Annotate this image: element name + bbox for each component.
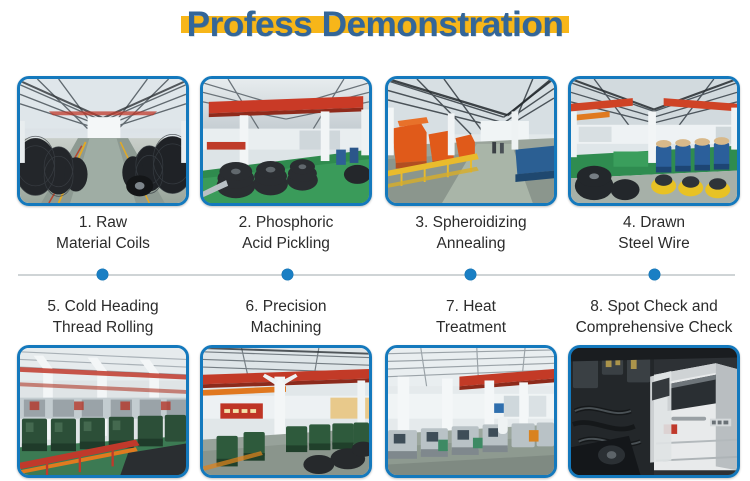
photo-heat-treatment	[388, 348, 554, 475]
page-title: Profess Demonstration	[187, 4, 564, 46]
step-photo-8[interactable]	[568, 345, 740, 478]
photo-cold-heading-thread-rolling	[20, 348, 186, 475]
photo-raw-material-coils	[20, 79, 186, 203]
timeline-dot-6[interactable]	[282, 269, 293, 280]
step-photo-4[interactable]	[568, 76, 740, 206]
step-photo-2[interactable]	[200, 76, 372, 206]
photo-precision-machining	[203, 348, 369, 475]
step-photo-7[interactable]	[385, 345, 557, 478]
step-caption-2: 2. Phosphoric Acid Pickling	[200, 212, 372, 254]
photo-drawn-steel-wire	[571, 79, 737, 203]
step-photo-5[interactable]	[17, 345, 189, 478]
step-caption-8: 8. Spot Check and Comprehensive Check	[560, 296, 748, 338]
step-caption-3: 3. Spheroidizing Annealing	[385, 212, 557, 254]
step-caption-7: 7. Heat Treatment	[385, 296, 557, 338]
profess-demonstration-page: Profess Demonstration	[0, 0, 750, 481]
photo-spheroidizing-annealing	[388, 79, 554, 203]
step-caption-5: 5. Cold Heading Thread Rolling	[17, 296, 189, 338]
step-photo-1[interactable]	[17, 76, 189, 206]
step-caption-4: 4. Drawn Steel Wire	[568, 212, 740, 254]
timeline-axis	[18, 274, 735, 276]
step-photo-6[interactable]	[200, 345, 372, 478]
title-group: Profess Demonstration	[177, 0, 574, 46]
photo-spot-check-comprehensive-check	[571, 348, 737, 475]
step-caption-1: 1. Raw Material Coils	[17, 212, 189, 254]
photo-phosphoric-acid-pickling	[203, 79, 369, 203]
timeline-dot-8[interactable]	[649, 269, 660, 280]
step-caption-6: 6. Precision Machining	[200, 296, 372, 338]
page-header: Profess Demonstration	[0, 0, 750, 62]
step-photo-3[interactable]	[385, 76, 557, 206]
timeline-dot-5[interactable]	[97, 269, 108, 280]
timeline-dot-7[interactable]	[465, 269, 476, 280]
